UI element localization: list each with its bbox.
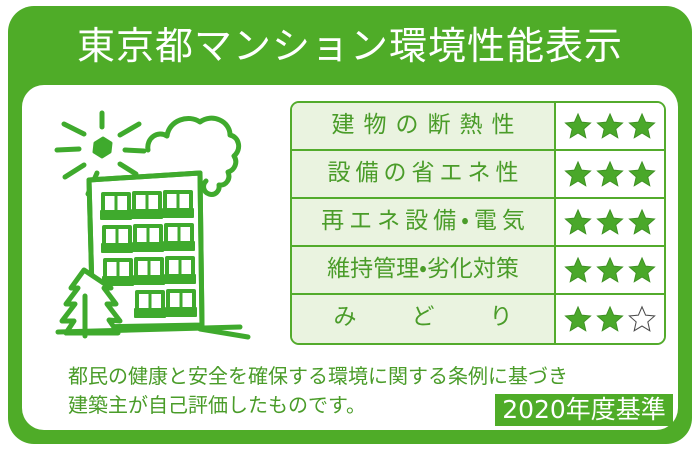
rating-stars-insulation bbox=[556, 103, 664, 149]
star-filled-icon bbox=[564, 208, 592, 236]
rating-label-greenery-char: ど bbox=[384, 295, 462, 339]
eco-apartment-building-illustration bbox=[40, 93, 290, 353]
rating-label-insulation: 建物の断熱性 bbox=[292, 103, 556, 149]
page-title: 東京都マンション環境性能表示 bbox=[8, 22, 692, 70]
table-row: 建物の断熱性 bbox=[292, 103, 664, 151]
star-filled-icon bbox=[564, 112, 592, 140]
label-inner-panel: 建物の断熱性 設備の省エネ性 再エネ設備・電気 bbox=[22, 85, 678, 430]
ratings-table: 建物の断熱性 設備の省エネ性 再エネ設備・電気 bbox=[290, 101, 666, 345]
star-filled-icon bbox=[596, 208, 624, 236]
table-row: 維持管理・劣化対策 bbox=[292, 247, 664, 295]
rating-label-energy-saving: 設備の省エネ性 bbox=[292, 151, 556, 197]
table-row: 設備の省エネ性 bbox=[292, 151, 664, 199]
star-filled-icon bbox=[596, 112, 624, 140]
rating-stars-maintenance bbox=[556, 247, 664, 293]
footer-note-line2: 建築主が自己評価したものです。 bbox=[68, 391, 508, 420]
rating-stars-greenery bbox=[556, 295, 664, 343]
star-filled-icon bbox=[564, 160, 592, 188]
rating-label-greenery-char: み bbox=[306, 295, 384, 339]
star-filled-icon bbox=[596, 256, 624, 284]
footer-note-line1: 都民の健康と安全を確保する環境に関する条例に基づき bbox=[68, 362, 508, 391]
footer-note: 都民の健康と安全を確保する環境に関する条例に基づき 建築主が自己評価したものです… bbox=[68, 362, 508, 420]
star-filled-icon bbox=[628, 112, 656, 140]
star-filled-icon bbox=[564, 256, 592, 284]
star-filled-icon bbox=[564, 305, 592, 333]
rating-label-greenery-char: り bbox=[462, 295, 540, 339]
star-filled-icon bbox=[628, 208, 656, 236]
star-outline-icon bbox=[628, 305, 656, 333]
star-filled-icon bbox=[596, 160, 624, 188]
standard-year-badge: 2020年度基準 bbox=[495, 394, 673, 426]
rating-label-greenery: みどり bbox=[292, 295, 556, 343]
table-row: 再エネ設備・電気 bbox=[292, 199, 664, 247]
environmental-performance-label-card: 東京都マンション環境性能表示 bbox=[8, 6, 692, 444]
star-filled-icon bbox=[596, 305, 624, 333]
rating-stars-renewable-energy bbox=[556, 199, 664, 245]
star-filled-icon bbox=[628, 160, 656, 188]
rating-label-maintenance: 維持管理・劣化対策 bbox=[292, 247, 556, 293]
star-filled-icon bbox=[628, 256, 656, 284]
rating-label-renewable-energy: 再エネ設備・電気 bbox=[292, 199, 556, 245]
rating-stars-energy-saving bbox=[556, 151, 664, 197]
table-row: みどり bbox=[292, 295, 664, 343]
